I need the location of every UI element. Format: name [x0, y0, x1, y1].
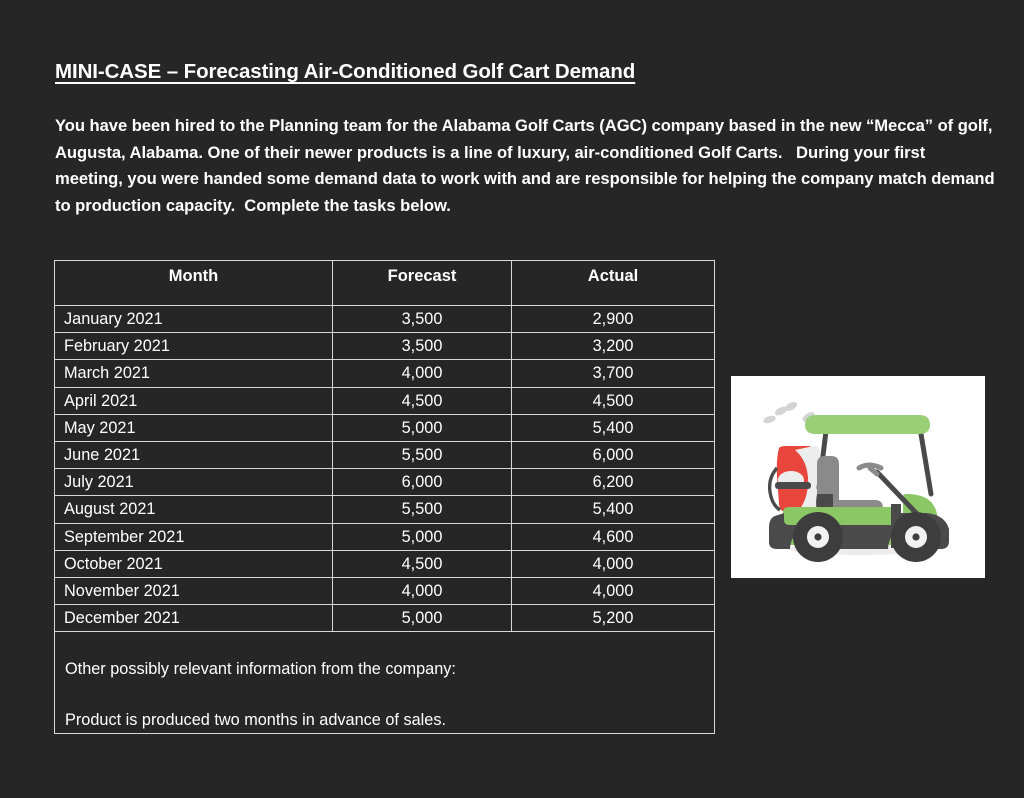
- cell-actual: 5,400: [512, 496, 715, 523]
- cell-forecast: 3,500: [333, 333, 512, 360]
- table-header-row: Month Forecast Actual: [55, 261, 715, 306]
- cell-actual: 6,200: [512, 469, 715, 496]
- cell-forecast: 5,000: [333, 605, 512, 632]
- cell-month: March 2021: [55, 360, 333, 387]
- table-row: May 2021 5,000 5,400: [55, 414, 715, 441]
- cell-forecast: 6,000: [333, 469, 512, 496]
- slide-canvas: MINI-CASE – Forecasting Air-Conditioned …: [0, 0, 1024, 798]
- table-notes-row: Other possibly relevant information from…: [55, 632, 715, 734]
- cell-actual: 4,000: [512, 578, 715, 605]
- cell-actual: 5,200: [512, 605, 715, 632]
- cell-forecast: 4,500: [333, 550, 512, 577]
- cell-forecast: 5,500: [333, 496, 512, 523]
- notes-cell: Other possibly relevant information from…: [55, 632, 715, 734]
- cell-month: April 2021: [55, 387, 333, 414]
- cell-month: September 2021: [55, 523, 333, 550]
- cell-forecast: 4,000: [333, 360, 512, 387]
- table-row: June 2021 5,500 6,000: [55, 442, 715, 469]
- cell-forecast: 4,000: [333, 578, 512, 605]
- cell-month: June 2021: [55, 442, 333, 469]
- cell-month: December 2021: [55, 605, 333, 632]
- demand-data-table: Month Forecast Actual January 2021 3,500…: [54, 260, 715, 734]
- cell-actual: 5,400: [512, 414, 715, 441]
- golf-cart-illustration: [731, 376, 985, 578]
- table-row: July 2021 6,000 6,200: [55, 469, 715, 496]
- cell-month: January 2021: [55, 306, 333, 333]
- cell-forecast: 4,500: [333, 387, 512, 414]
- table-row: February 2021 3,500 3,200: [55, 333, 715, 360]
- table-row: January 2021 3,500 2,900: [55, 306, 715, 333]
- table-row: April 2021 4,500 4,500: [55, 387, 715, 414]
- cell-month: November 2021: [55, 578, 333, 605]
- cell-forecast: 3,500: [333, 306, 512, 333]
- golf-cart-image-panel: [731, 376, 985, 578]
- table-row: September 2021 5,000 4,600: [55, 523, 715, 550]
- cell-forecast: 5,000: [333, 414, 512, 441]
- intro-paragraph: You have been hired to the Planning team…: [55, 113, 995, 219]
- cell-actual: 3,200: [512, 333, 715, 360]
- cell-month: February 2021: [55, 333, 333, 360]
- column-header-actual: Actual: [512, 261, 715, 306]
- table-row: August 2021 5,500 5,400: [55, 496, 715, 523]
- cell-actual: 2,900: [512, 306, 715, 333]
- table-row: November 2021 4,000 4,000: [55, 578, 715, 605]
- cell-month: October 2021: [55, 550, 333, 577]
- table-row: October 2021 4,500 4,000: [55, 550, 715, 577]
- cell-month: May 2021: [55, 414, 333, 441]
- notes-line-1: Other possibly relevant information from…: [65, 656, 714, 682]
- cell-actual: 6,000: [512, 442, 715, 469]
- cell-month: August 2021: [55, 496, 333, 523]
- notes-line-2: Product is produced two months in advanc…: [65, 707, 714, 733]
- cell-month: July 2021: [55, 469, 333, 496]
- cell-forecast: 5,000: [333, 523, 512, 550]
- cell-actual: 4,000: [512, 550, 715, 577]
- table-row: March 2021 4,000 3,700: [55, 360, 715, 387]
- column-header-month: Month: [55, 261, 333, 306]
- table-row: December 2021 5,000 5,200: [55, 605, 715, 632]
- cell-forecast: 5,500: [333, 442, 512, 469]
- cell-actual: 4,600: [512, 523, 715, 550]
- notes-spacer: [65, 682, 714, 707]
- column-header-forecast: Forecast: [333, 261, 512, 306]
- cell-actual: 3,700: [512, 360, 715, 387]
- page-title: MINI-CASE – Forecasting Air-Conditioned …: [55, 60, 635, 84]
- cell-actual: 4,500: [512, 387, 715, 414]
